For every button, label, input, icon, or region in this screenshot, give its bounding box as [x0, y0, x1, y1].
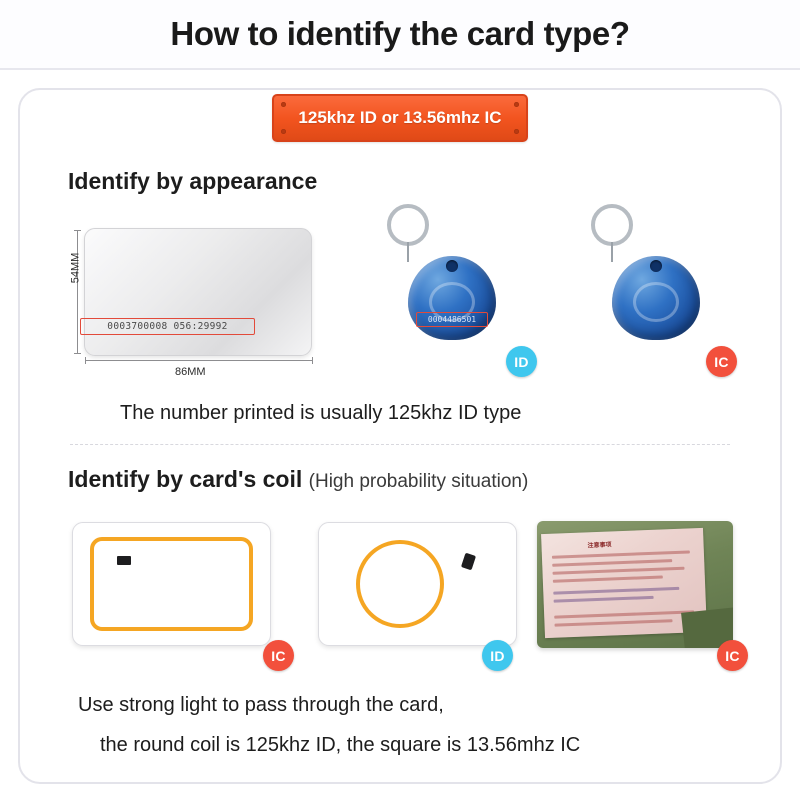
page-title: How to identify the card type?: [170, 15, 629, 53]
photo-card-text-line: [552, 559, 672, 567]
photo-card-real-sample: 注意事项: [537, 521, 733, 648]
card-height-dimension-line: [77, 230, 78, 354]
photo-card-text-line: [553, 587, 679, 595]
caption-coil-line1: Use strong light to pass through the car…: [78, 694, 444, 717]
card-type-chip: 125khz ID or 13.56mhz IC: [272, 94, 528, 142]
card-printed-number: 0003700008 056:29992: [107, 321, 227, 332]
caption-appearance: The number printed is usually 125khz ID …: [120, 402, 521, 425]
section-divider: [70, 444, 730, 445]
page-root: How to identify the card type? 125khz ID…: [0, 0, 800, 800]
keyring-icon: [591, 204, 633, 246]
keyfob-inner-ring: [633, 282, 679, 322]
section-heading-appearance: Identify by appearance: [68, 168, 317, 195]
photo-card-text-line: [553, 567, 685, 575]
header-divider: [0, 68, 800, 70]
section-heading-coil: Identify by card's coil (High probabilit…: [68, 466, 528, 493]
photo-card-note-title: 注意事项: [587, 539, 611, 549]
square-coil-shape: [90, 537, 253, 631]
keyfob-printed-number: 0004486501: [428, 315, 476, 324]
photo-card-text-line: [554, 596, 654, 603]
photo-card-text-line: [555, 619, 673, 627]
keyring-icon: [387, 204, 429, 246]
badge-ic: IC: [717, 640, 748, 671]
photo-card-text-line: [554, 610, 694, 618]
card-height-label: 54MM: [69, 253, 81, 284]
card-width-dimension-line: [85, 360, 313, 361]
keyfob-printed-number-highlight: 0004486501: [416, 312, 488, 327]
screw-icon: [281, 102, 286, 107]
section-heading-appearance-text: Identify by appearance: [68, 168, 317, 194]
photo-card-text-line: [552, 550, 690, 558]
screw-icon: [514, 129, 519, 134]
badge-ic: IC: [706, 346, 737, 377]
section-heading-coil-sub: (High probability situation): [309, 471, 529, 492]
screw-icon: [281, 129, 286, 134]
white-card-illustration: [84, 228, 312, 356]
keyring-chain: [407, 242, 409, 262]
badge-id: ID: [482, 640, 513, 671]
caption-coil-line2: the round coil is 125khz ID, the square …: [100, 734, 580, 757]
badge-ic: IC: [263, 640, 294, 671]
badge-id: ID: [506, 346, 537, 377]
coil-chip-icon: [117, 556, 131, 565]
section-heading-coil-text: Identify by card's coil: [68, 466, 302, 492]
card-printed-number-highlight: 0003700008 056:29992: [80, 318, 255, 335]
page-header: How to identify the card type?: [0, 0, 800, 68]
keyfob-body: [612, 256, 700, 340]
card-width-label: 86MM: [175, 366, 206, 378]
keyfob-body: [408, 256, 496, 340]
screw-icon: [514, 102, 519, 107]
photo-card-text-line: [553, 576, 663, 583]
card-type-chip-label: 125khz ID or 13.56mhz IC: [298, 108, 501, 128]
keyring-chain: [611, 242, 613, 262]
round-coil-shape: [356, 540, 444, 628]
